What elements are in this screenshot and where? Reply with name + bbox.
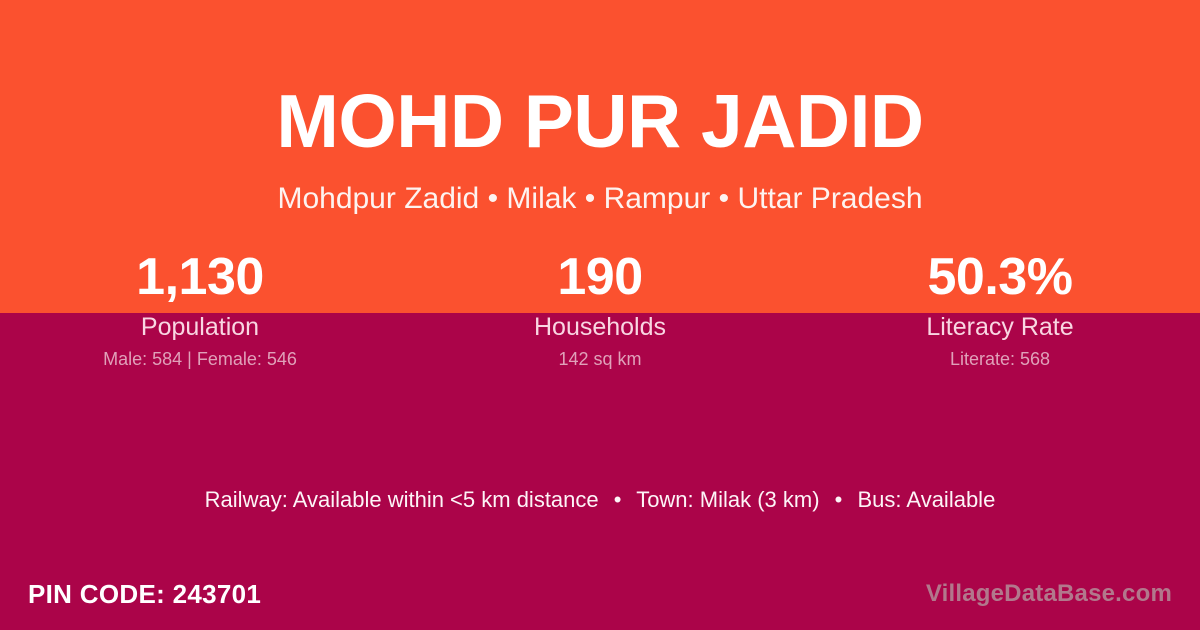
amenity-town: Town: Milak (3 km) — [636, 487, 819, 512]
amenities-line: Railway: Available within <5 km distance… — [0, 485, 1200, 515]
stat-label: Population — [0, 313, 400, 342]
stats-row: 1,130 Population Male: 584 | Female: 546… — [0, 246, 1200, 370]
site-brand: VillageDataBase.com — [926, 580, 1172, 608]
amenity-bus: Bus: Available — [858, 487, 996, 512]
stat-label: Households — [400, 313, 800, 342]
stat-value: 1,130 — [0, 246, 400, 308]
footer-bar: PIN CODE: 243701 VillageDataBase.com — [0, 558, 1200, 630]
breadcrumb: Mohdpur Zadid • Milak • Rampur • Uttar P… — [0, 182, 1200, 217]
stat-households: 190 Households 142 sq km — [400, 246, 800, 370]
bullet-separator-icon: • — [826, 487, 852, 512]
stat-value: 190 — [400, 246, 800, 308]
pin-code: PIN CODE: 243701 — [28, 579, 261, 610]
stat-detail: 142 sq km — [400, 349, 800, 370]
page-title: MOHD PUR JADID — [0, 84, 1200, 159]
stat-detail: Male: 584 | Female: 546 — [0, 349, 400, 370]
stat-label: Literacy Rate — [800, 313, 1200, 342]
amenity-railway: Railway: Available within <5 km distance — [205, 487, 599, 512]
stat-literacy-rate: 50.3% Literacy Rate Literate: 568 — [800, 246, 1200, 370]
stat-value: 50.3% — [800, 246, 1200, 308]
stat-population: 1,130 Population Male: 584 | Female: 546 — [0, 246, 400, 370]
bullet-separator-icon: • — [605, 487, 631, 512]
stat-detail: Literate: 568 — [800, 349, 1200, 370]
